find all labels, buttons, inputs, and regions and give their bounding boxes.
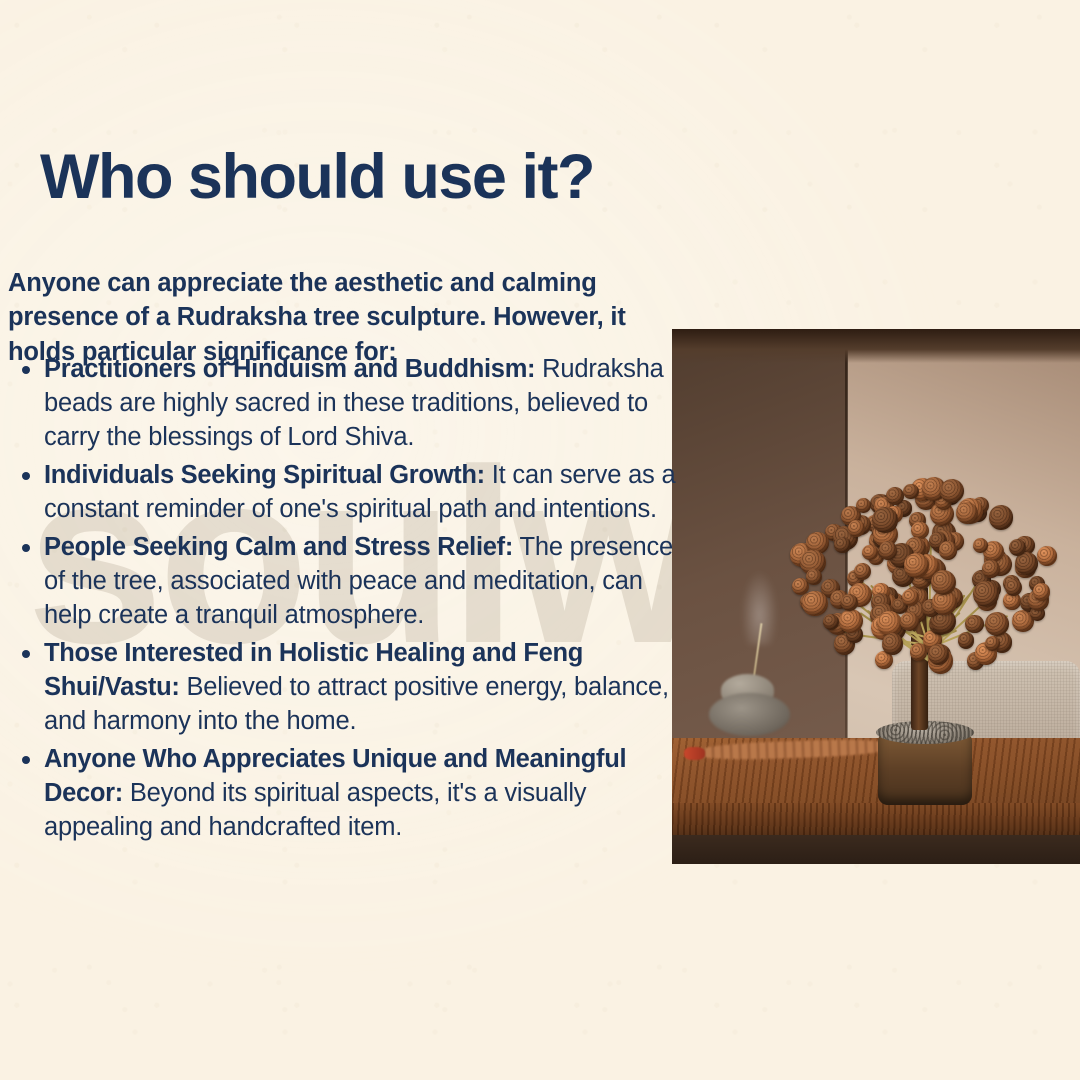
rudraksha-bead: [806, 569, 822, 585]
rudraksha-bead: [956, 502, 978, 524]
rudraksha-bead: [958, 632, 975, 649]
list-item-body: Beyond its spiritual aspects, it's a vis…: [44, 779, 586, 841]
photo-top-shadow: [672, 329, 1080, 363]
rudraksha-bead: [834, 537, 851, 554]
list-item: Individuals Seeking Spiritual Growth: It…: [18, 458, 682, 526]
rudraksha-bead: [973, 581, 998, 606]
under-shelf-shadow: [672, 835, 1080, 864]
rudraksha-bead: [1037, 546, 1057, 566]
rudraksha-bead: [931, 570, 956, 595]
rudraksha-bead: [854, 563, 871, 580]
rudraksha-bead: [1005, 579, 1022, 596]
rudraksha-bead: [841, 594, 858, 611]
product-photo: [672, 329, 1080, 864]
list-item: Those Interested in Holistic Healing and…: [18, 636, 682, 738]
list-item: Practitioners of Hinduism and Buddhism: …: [18, 352, 682, 454]
wooden-shelf-edge: [672, 803, 1080, 836]
page-title: Who should use it?: [40, 146, 594, 209]
rudraksha-bead: [862, 545, 878, 561]
rudraksha-bead: [872, 507, 898, 533]
rudraksha-bead: [910, 643, 928, 661]
list-item-lead: People Seeking Calm and Stress Relief:: [44, 533, 513, 561]
benefits-list: Practitioners of Hinduism and Buddhism: …: [18, 352, 682, 848]
list-item-lead: Practitioners of Hinduism and Buddhism:: [44, 355, 535, 383]
rudraksha-bead: [904, 553, 929, 578]
rudraksha-bead: [856, 498, 871, 513]
list-item: Anyone Who Appreciates Unique and Meanin…: [18, 742, 682, 844]
mala-tassel: [684, 747, 704, 760]
rudraksha-bead: [823, 614, 839, 630]
list-item-lead: Individuals Seeking Spiritual Growth:: [44, 461, 485, 489]
rudraksha-bead: [882, 633, 903, 654]
rudraksha-bead: [939, 541, 957, 559]
rudraksha-bead: [802, 591, 828, 617]
list-item: People Seeking Calm and Stress Relief: T…: [18, 530, 682, 632]
rudraksha-bead: [985, 612, 1009, 636]
incense-burner-dish: [709, 693, 791, 736]
rudraksha-bead: [1033, 583, 1051, 601]
rudraksha-bead: [879, 541, 897, 559]
